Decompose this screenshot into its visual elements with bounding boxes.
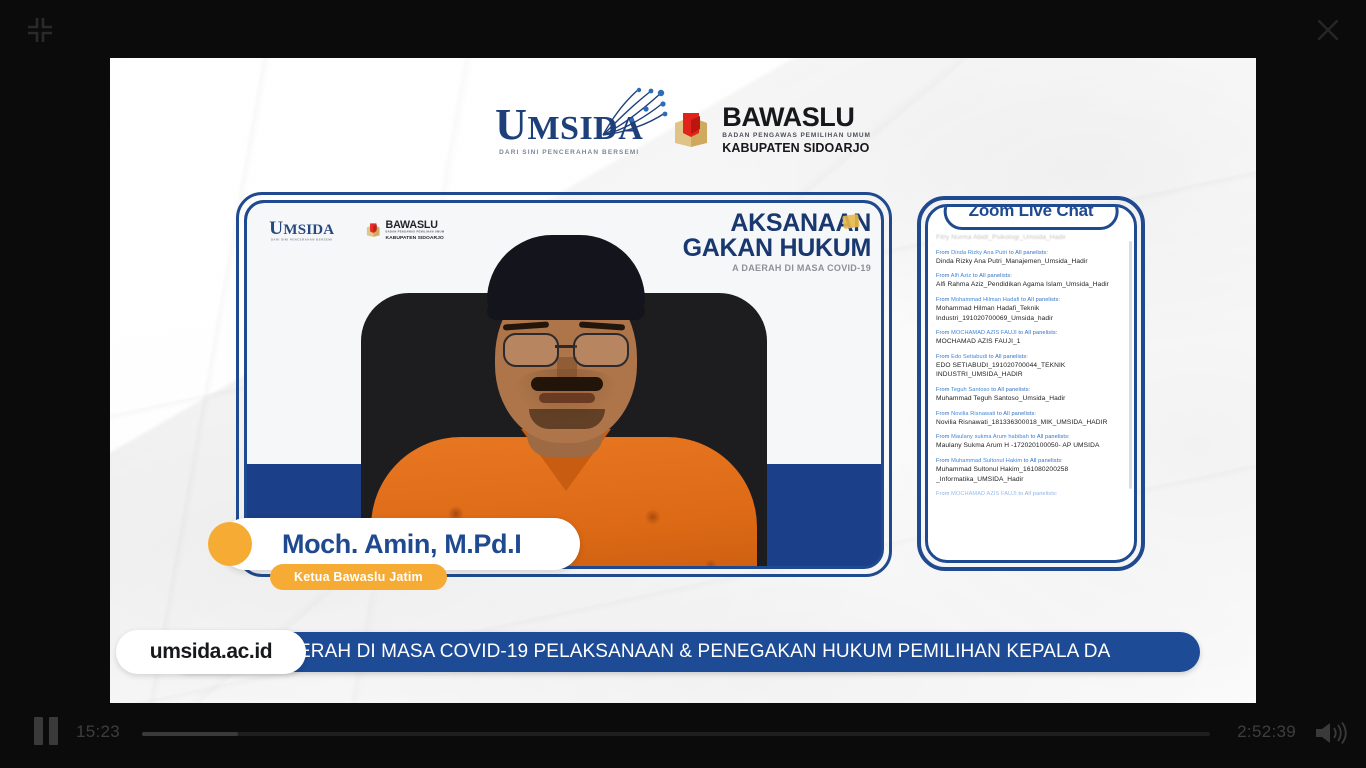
bawaslu-ballot-icon bbox=[669, 107, 713, 151]
chat-from-to: to All panelists: bbox=[1029, 434, 1070, 440]
video-player: UMSIDA DARI SINI PENCERAHAN BERSEMI BAWA… bbox=[0, 0, 1366, 768]
chat-from-prefix: From bbox=[936, 297, 951, 303]
chat-from-prefix: From bbox=[936, 411, 951, 417]
brand-badge: umsida.ac.id bbox=[116, 630, 306, 674]
header-logos: UMSIDA DARI SINI PENCERAHAN BERSEMI BAWA… bbox=[110, 88, 1256, 170]
progress-bar[interactable] bbox=[142, 732, 1210, 736]
bawaslu-region: KABUPATEN SIDOARJO bbox=[722, 142, 871, 155]
chat-message: From Mohammad Hilman Hadafi to All panel… bbox=[936, 296, 1128, 323]
chat-message: From Teguh Santoso to All panelists: Muh… bbox=[936, 386, 1128, 404]
chat-from-to: to All panelists: bbox=[995, 411, 1036, 417]
mouth bbox=[539, 393, 595, 403]
chat-from-name: Maulany sukma Arum habibah bbox=[951, 434, 1029, 440]
chat-message-from: From Alfi Aziz to All panelists: bbox=[936, 272, 1128, 280]
slide-badge-icon bbox=[842, 214, 860, 229]
chat-from-to: to All panelists: bbox=[971, 273, 1012, 279]
chat-message-text: Fitry Nurma Abidi_Psikologi_Umsida_Hadir bbox=[936, 233, 1128, 243]
chat-message: From MOCHAMAD AZIS FAUJI to All panelist… bbox=[936, 490, 1128, 498]
chat-message-text: Novilia Risnawati_181336300018_MIK_UMSID… bbox=[936, 418, 1128, 428]
duration: 2:52:39 bbox=[1237, 722, 1296, 742]
chat-from-prefix: From bbox=[936, 434, 951, 440]
chat-message: From Maulany sukma Arum habibah to All p… bbox=[936, 433, 1128, 451]
chat-from-to: to All panelists: bbox=[1017, 491, 1058, 497]
mustache bbox=[531, 377, 603, 391]
speaker-video-inner: UMSIDA DARI SINI PENCERAHAN BERSEMI bbox=[244, 200, 884, 569]
news-ticker: ERAH DI MASA COVID-19 PELAKSANAAN & PENE… bbox=[170, 632, 1200, 672]
chat-from-name: Novilia Risnawati bbox=[951, 411, 995, 417]
chat-from-to: to All panelists: bbox=[1020, 297, 1061, 303]
chat-message-from: From Muhammad Sultonul Hakim to All pane… bbox=[936, 457, 1128, 465]
chat-message-from: From Maulany sukma Arum habibah to All p… bbox=[936, 433, 1128, 441]
chat-message-text: Maulany Sukma Arum H -172020100050- AP U… bbox=[936, 441, 1128, 451]
bawaslu-subtitle: BADAN PENGAWAS PEMILIHAN UMUM bbox=[722, 133, 871, 140]
bawaslu-title: BAWASLU bbox=[722, 104, 871, 131]
chat-from-name: Dinda Rizky Ana Putri bbox=[951, 250, 1007, 256]
chat-from-name: Edo Setiabudi bbox=[951, 354, 987, 360]
chat-message-from: From MOCHAMAD AZIS FAUJI to All panelist… bbox=[936, 490, 1128, 498]
volume-high-icon[interactable] bbox=[1312, 719, 1352, 747]
chat-inner: Zoom Live Chat Fitry Nurma Abidi_Psikolo… bbox=[925, 204, 1137, 563]
chat-message: From Alfi Aziz to All panelists: Alfi Ra… bbox=[936, 272, 1128, 290]
chat-from-to: to All panelists: bbox=[1007, 250, 1048, 256]
chat-from-prefix: From bbox=[936, 354, 951, 360]
pause-icon[interactable] bbox=[34, 717, 60, 745]
chat-from-to: to All panelists: bbox=[990, 387, 1031, 393]
chat-from-name: Mohammad Hilman Hadafi bbox=[951, 297, 1019, 303]
chat-message-text: Muhammad Sultonul Hakim_161080200258 _In… bbox=[936, 465, 1128, 484]
chat-message-from: From Dinda Rizky Ana Putri to All paneli… bbox=[936, 249, 1128, 257]
bawaslu-logo: BAWASLU BADAN PENGAWAS PEMILIHAN UMUM KA… bbox=[669, 104, 871, 155]
umsida-tagline: DARI SINI PENCERAHAN BERSEMI bbox=[499, 149, 639, 156]
speaker-role-badge: Ketua Bawaslu Jatim bbox=[270, 564, 447, 590]
chat-message-text: Mohammad Hilman Hadafi_Teknik Industri_1… bbox=[936, 304, 1128, 323]
chat-from-prefix: From bbox=[936, 387, 951, 393]
chat-from-prefix: From bbox=[936, 330, 951, 336]
peci-cap bbox=[487, 235, 645, 313]
chat-from-prefix: From bbox=[936, 458, 951, 464]
close-icon[interactable] bbox=[1310, 12, 1346, 48]
chat-from-to: to All panelists: bbox=[1022, 458, 1063, 464]
ticker-text: ERAH DI MASA COVID-19 PELAKSANAAN & PENE… bbox=[298, 641, 1110, 663]
brand-text: umsida.ac.id bbox=[150, 640, 272, 664]
beard bbox=[529, 409, 605, 429]
current-time: 15:23 bbox=[76, 722, 120, 742]
chat-message-from: From Mohammad Hilman Hadafi to All panel… bbox=[936, 296, 1128, 304]
chat-title: Zoom Live Chat bbox=[969, 204, 1094, 220]
chat-message-from: From MOCHAMAD AZIS FAUJI to All panelist… bbox=[936, 329, 1128, 337]
umsida-logo: UMSIDA DARI SINI PENCERAHAN BERSEMI bbox=[495, 103, 643, 156]
chat-message-text: Alfi Rahma Aziz_Pendidikan Agama Islam_U… bbox=[936, 280, 1128, 290]
chat-message: From MOCHAMAD AZIS FAUJI to All panelist… bbox=[936, 329, 1128, 347]
chat-message: From Novilia Risnawati to All panelists:… bbox=[936, 410, 1128, 428]
exit-fullscreen-icon[interactable] bbox=[24, 14, 56, 46]
chat-from-name: MOCHAMAD AZIS FAUJI bbox=[951, 491, 1017, 497]
video-stage[interactable]: UMSIDA DARI SINI PENCERAHAN BERSEMI BAWA… bbox=[110, 58, 1256, 703]
chat-message-text: Dinda Rizky Ana Putri_Manajemen_Umsida_H… bbox=[936, 257, 1128, 267]
speaker-person bbox=[399, 225, 729, 566]
player-controls: 15:23 2:52:39 bbox=[0, 703, 1366, 768]
chat-scrollbar[interactable] bbox=[1129, 241, 1132, 489]
speaker-name: Moch. Amin, M.Pd.I bbox=[282, 529, 521, 560]
player-topbar bbox=[0, 0, 1366, 58]
chat-message: Fitry Nurma Abidi_Psikologi_Umsida_Hadir bbox=[936, 233, 1128, 243]
speaker-video-feed: UMSIDA DARI SINI PENCERAHAN BERSEMI bbox=[247, 203, 881, 566]
chat-from-name: MOCHAMAD AZIS FAUJI bbox=[951, 330, 1017, 336]
chat-message-text: Muhammad Teguh Santoso_Umsida_Hadir bbox=[936, 394, 1128, 404]
progress-bar-fill bbox=[142, 732, 238, 736]
chat-message-text: MOCHAMAD AZIS FAUJI_1 bbox=[936, 337, 1128, 347]
chat-from-name: Teguh Santoso bbox=[951, 387, 990, 393]
eyeglasses bbox=[503, 333, 629, 363]
accent-dot bbox=[208, 522, 252, 566]
chat-message-text: EDO SETIABUDI_191020700044_TEKNIK INDUST… bbox=[936, 361, 1128, 380]
chat-message-from: From Edo Setiabudi to All panelists: bbox=[936, 353, 1128, 361]
chat-message: From Edo Setiabudi to All panelists: EDO… bbox=[936, 353, 1128, 380]
chat-from-name: Muhammad Sultonul Hakim bbox=[951, 458, 1022, 464]
chat-from-name: Alfi Aziz bbox=[951, 273, 971, 279]
chat-message-list[interactable]: Fitry Nurma Abidi_Psikologi_Umsida_Hadir… bbox=[936, 233, 1128, 556]
speaker-name-banner: Moch. Amin, M.Pd.I bbox=[220, 518, 580, 570]
umsida-burst-icon bbox=[599, 87, 669, 139]
chat-title-pill: Zoom Live Chat bbox=[944, 204, 1119, 230]
chat-message: From Muhammad Sultonul Hakim to All pane… bbox=[936, 457, 1128, 484]
speaker-role: Ketua Bawaslu Jatim bbox=[294, 570, 423, 584]
chat-message-from: From Novilia Risnawati to All panelists: bbox=[936, 410, 1128, 418]
chat-from-prefix: From bbox=[936, 250, 951, 256]
zoom-live-chat-panel[interactable]: Zoom Live Chat Fitry Nurma Abidi_Psikolo… bbox=[917, 196, 1145, 571]
chat-from-to: to All panelists: bbox=[987, 354, 1028, 360]
chat-from-to: to All panelists: bbox=[1017, 330, 1058, 336]
chat-from-prefix: From bbox=[936, 491, 951, 497]
chat-from-prefix: From bbox=[936, 273, 951, 279]
chat-message-from: From Teguh Santoso to All panelists: bbox=[936, 386, 1128, 394]
chat-message: From Dinda Rizky Ana Putri to All paneli… bbox=[936, 249, 1128, 267]
